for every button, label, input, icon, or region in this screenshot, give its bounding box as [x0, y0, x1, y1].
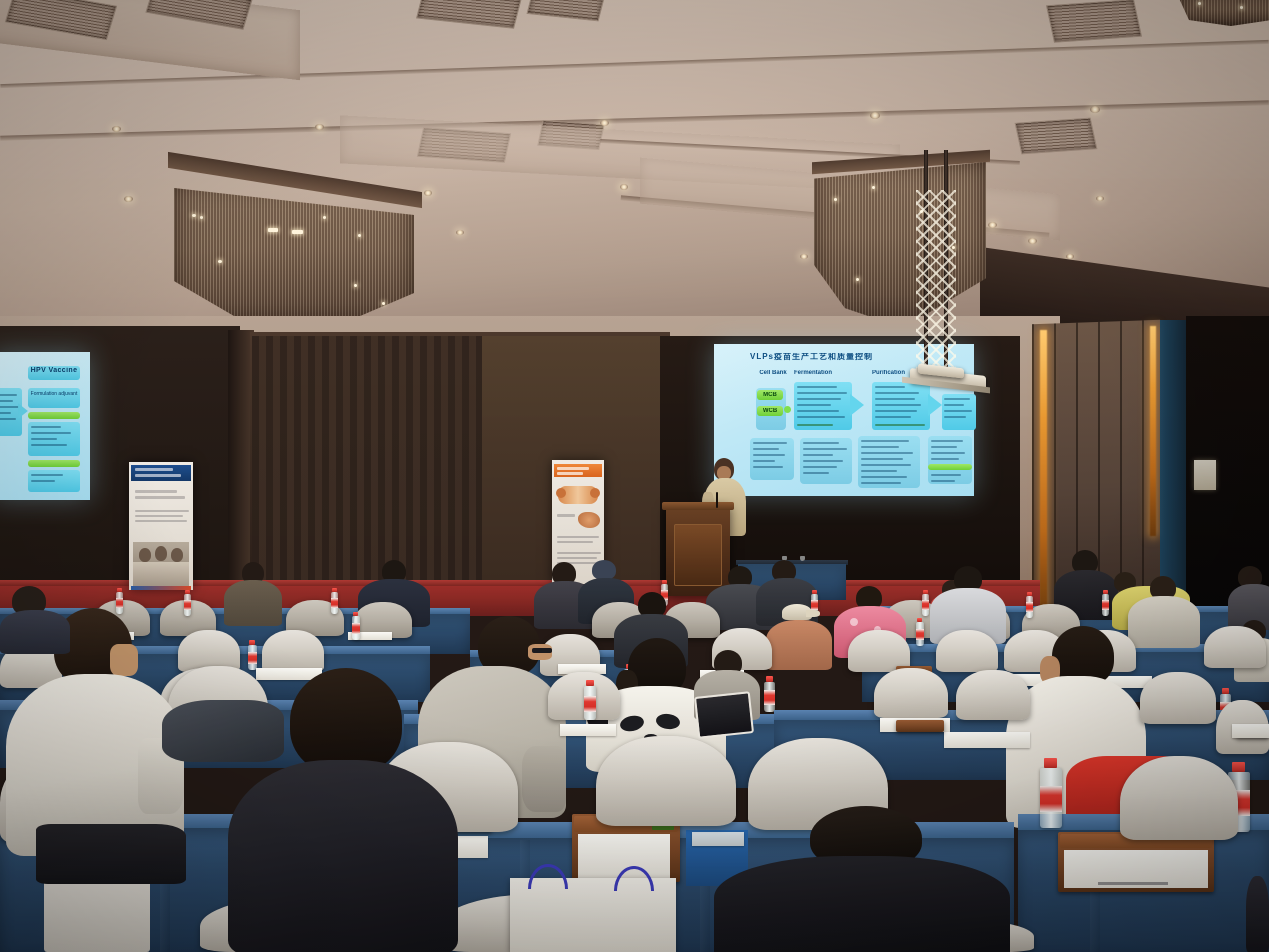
stage-curtain [252, 336, 482, 592]
list-item [1140, 672, 1216, 724]
water-bottle [1040, 758, 1062, 828]
downlight [315, 124, 324, 130]
left-projection-screen: HPV Vaccine Formulation adjuvant [0, 352, 90, 500]
water-bottle [916, 618, 924, 646]
water-bottle [922, 590, 929, 616]
downlight [870, 112, 880, 119]
chip-wcb: WCB [757, 408, 783, 414]
paper-sheet [560, 724, 616, 736]
list-item [874, 668, 948, 718]
banner-left-blue [129, 462, 193, 590]
tote-bag [510, 878, 676, 952]
col-heading-fermentation: Fermentation [794, 370, 858, 376]
paper-sheet [1232, 724, 1269, 738]
water-bottle [184, 590, 191, 616]
water-bottle [1026, 592, 1033, 618]
col-heading-cell-bank: Cell Bank [756, 370, 790, 377]
attendee-front-left-small [0, 586, 70, 650]
list-item [1120, 756, 1238, 840]
attendee-white-cap [766, 604, 832, 666]
list-item [956, 670, 1030, 720]
banner-photo-person [155, 546, 167, 561]
downlight [800, 254, 808, 259]
list-item [1204, 626, 1266, 668]
left-screen-title: HPV Vaccine [28, 367, 80, 374]
eyeglasses-icon [532, 648, 552, 653]
attendee-front-dark-hair [228, 668, 458, 952]
water-bottle [1102, 590, 1109, 616]
banner-photo-person [139, 548, 151, 562]
amber-light-strip [1150, 326, 1156, 536]
name-plate-holder [896, 720, 944, 732]
left-screen-subheading: Formulation adjuvant [29, 391, 79, 399]
name-plate-holder [1058, 832, 1214, 892]
chandelier-right-edge [1178, 0, 1269, 30]
wall-sign [1194, 460, 1216, 490]
downlight [600, 120, 609, 126]
list-item [930, 566, 1006, 638]
paper-sheet [944, 732, 1030, 748]
ceiling-projector [900, 150, 996, 390]
downlight [1090, 106, 1100, 113]
downlight [424, 190, 432, 196]
banner-illustration [578, 512, 600, 528]
downlight [124, 196, 133, 202]
downlight [1028, 238, 1037, 244]
banner-photo-person [171, 548, 183, 562]
water-bottle [764, 676, 775, 712]
downlight [620, 184, 628, 190]
water-bottle [352, 612, 360, 640]
water-bottle [331, 588, 338, 614]
list-item [262, 630, 324, 672]
amber-light-strip [1040, 330, 1047, 618]
water-bottle [248, 640, 257, 670]
tablet-device [694, 691, 754, 739]
downlight [1096, 196, 1104, 201]
chip-mcb: MCB [757, 392, 783, 398]
list-item [936, 630, 998, 672]
attendee-right-edge [1246, 876, 1269, 952]
downlight [112, 126, 121, 132]
attendee-black-shirt-front [714, 806, 1010, 952]
avatar [290, 668, 402, 774]
conference-hall-photo: HPV Vaccine Formulation adjuvant VLPs疫苗生… [0, 0, 1269, 952]
water-bottle [584, 680, 596, 720]
list-item [1228, 566, 1269, 626]
downlight [456, 230, 464, 235]
list-item [224, 562, 282, 622]
podium-microphone [716, 492, 718, 508]
